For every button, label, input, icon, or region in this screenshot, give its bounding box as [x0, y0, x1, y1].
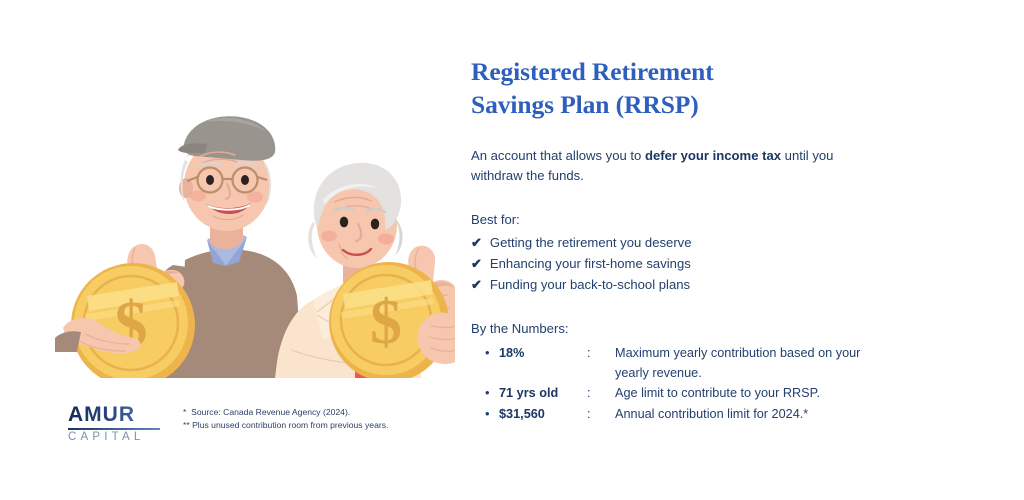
- svg-text:$: $: [370, 286, 402, 357]
- footnote-1: * Source: Canada Revenue Agency (2024).: [183, 406, 388, 419]
- table-row: • 18% : Maximum yearly contribution base…: [471, 343, 871, 383]
- metric-value: Age limit to contribute to your RRSP.: [615, 383, 871, 403]
- infographic-page: $: [0, 0, 1024, 500]
- logo-divider: [68, 428, 160, 430]
- page-title: Registered Retirement Savings Plan (RRSP…: [471, 56, 871, 121]
- check-icon: ✔: [471, 257, 482, 270]
- best-for-list: ✔ Getting the retirement you deserve ✔ E…: [471, 232, 871, 296]
- metric-value: Maximum yearly contribution based on you…: [615, 343, 871, 383]
- footnotes: * Source: Canada Revenue Agency (2024). …: [183, 406, 388, 433]
- list-item: ✔ Enhancing your first-home savings: [471, 253, 871, 274]
- page-title-line-1: Registered Retirement: [471, 57, 714, 86]
- best-for-item-label: Getting the retirement you deserve: [490, 232, 692, 253]
- content-column: Registered Retirement Savings Plan (RRSP…: [471, 56, 871, 424]
- check-icon: ✔: [471, 236, 482, 249]
- metric-separator: :: [587, 404, 615, 424]
- list-item: ✔ Funding your back-to-school plans: [471, 274, 871, 295]
- best-for-item-label: Funding your back-to-school plans: [490, 274, 690, 295]
- best-for-item-label: Enhancing your first-home savings: [490, 253, 691, 274]
- bullet-icon: •: [471, 404, 499, 425]
- page-title-line-2: Savings Plan (RRSP): [471, 90, 699, 119]
- metric-key: 18%: [499, 343, 587, 363]
- best-for-label: Best for:: [471, 210, 871, 230]
- logo-subtext: CAPITAL: [68, 432, 160, 444]
- description-emphasis: defer your income tax: [645, 148, 781, 163]
- check-icon: ✔: [471, 278, 482, 291]
- metric-value: Annual contribution limit for 2024.*: [615, 404, 871, 424]
- bullet-icon: •: [471, 383, 499, 404]
- footnote-2: ** Plus unused contribution room from pr…: [183, 419, 388, 432]
- list-item: ✔ Getting the retirement you deserve: [471, 232, 871, 253]
- table-row: • 71 yrs old : Age limit to contribute t…: [471, 383, 871, 404]
- amur-capital-logo: AMUR CAPITAL: [68, 404, 160, 444]
- by-the-numbers-list: • 18% : Maximum yearly contribution base…: [471, 343, 871, 424]
- illustration-elderly-couple-coins: $: [55, 100, 455, 385]
- table-row: • $31,560 : Annual contribution limit fo…: [471, 404, 871, 425]
- metric-key: $31,560: [499, 404, 587, 424]
- by-the-numbers-label: By the Numbers:: [471, 319, 871, 339]
- metric-separator: :: [587, 343, 615, 363]
- logo-wordmark: AMUR: [68, 404, 160, 425]
- metric-key: 71 yrs old: [499, 383, 587, 403]
- bullet-icon: •: [471, 343, 499, 364]
- description-paragraph: An account that allows you to defer your…: [471, 146, 869, 186]
- description-before: An account that allows you to: [471, 148, 645, 163]
- metric-separator: :: [587, 383, 615, 403]
